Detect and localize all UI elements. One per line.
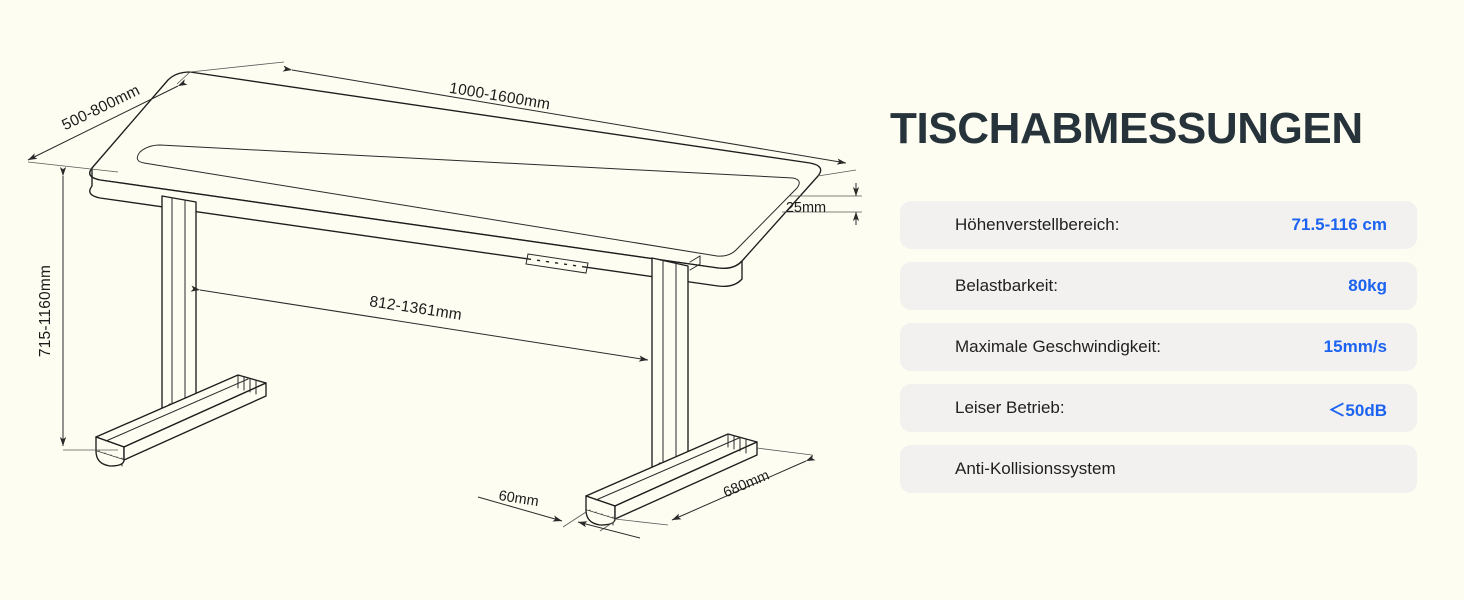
spec-value: 80kg [1348,276,1387,296]
spec-sheet: 1000-1600mm 500-800mm 715-1160mm 812-136… [0,0,1464,600]
left-leg [162,196,196,413]
spec-row-anti-kollisionssystem: Anti-Kollisionssystem [900,445,1417,493]
dim-label-foot-length: 680mm [721,468,772,502]
spec-row-hoehenverstellbereich: Höhenverstellbereich: 71.5-116 cm [900,201,1417,249]
spec-list: Höhenverstellbereich: 71.5-116 cm Belast… [900,201,1417,506]
spec-label: Belastbarkeit: [955,276,1058,296]
spec-value: 71.5-116 cm [1292,215,1387,235]
dim-label-foot-width: 60mm [497,488,539,510]
spec-row-belastbarkeit: Belastbarkeit: 80kg [900,262,1417,310]
specifications-panel: TISCHABMESSUNGEN Höhenverstellbereich: 7… [888,0,1464,600]
spec-value: ＜50dB [1328,396,1387,421]
dim-label-height: 715-1160mm [37,265,54,357]
desk-top [90,72,821,286]
dimension-height: 715-1160mm [28,162,118,450]
dim-label-clearance: 812-1361mm [368,293,463,324]
spec-row-leiser-betrieb: Leiser Betrieb: ＜50dB [900,384,1417,432]
dim-label-width: 1000-1600mm [448,80,552,114]
spec-label: Maximale Geschwindigkeit: [955,337,1161,357]
spec-label: Höhenverstellbereich: [955,215,1119,235]
spec-label: Anti-Kollisionssystem [955,459,1116,479]
page-title: TISCHABMESSUNGEN [890,104,1363,154]
spec-value: 15mm/s [1324,337,1387,357]
desk-technical-drawing: 1000-1600mm 500-800mm 715-1160mm 812-136… [0,0,880,600]
spec-label: Leiser Betrieb: [955,398,1065,418]
spec-row-maximale-geschwindigkeit: Maximale Geschwindigkeit: 15mm/s [900,323,1417,371]
dim-label-thickness: 25mm [786,200,826,216]
right-leg [652,256,700,472]
dimension-clearance: 812-1361mm [200,290,648,360]
